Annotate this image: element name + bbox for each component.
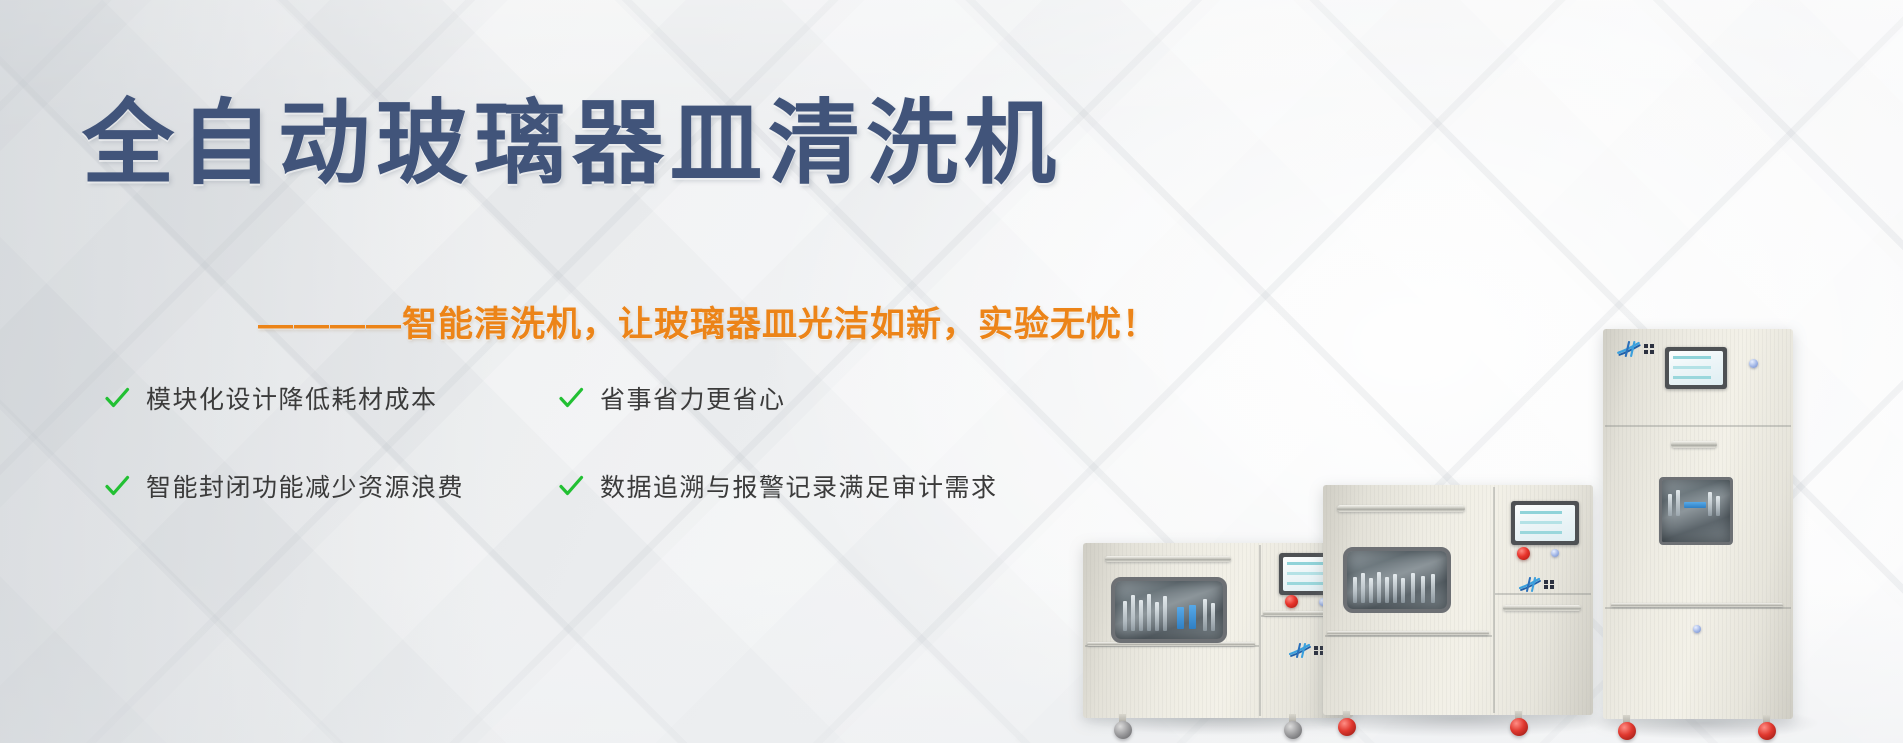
glassware-load — [1347, 551, 1447, 609]
page-title: 全自动玻璃器皿清洗机 — [82, 96, 1062, 194]
feature-label: 省事省力更省心 — [600, 380, 786, 416]
feature-list: 模块化设计降低耗材成本 省事省力更省心 智能封闭功能减少资源浪费 数据追溯与报警… — [104, 380, 998, 504]
emergency-stop-button[interactable] — [1517, 547, 1530, 560]
brand-logo — [1519, 577, 1554, 592]
viewing-window — [1111, 577, 1227, 643]
product-images — [1083, 0, 1903, 743]
caster-wheel — [1510, 718, 1528, 736]
panel-handle[interactable] — [1503, 605, 1581, 611]
check-icon — [104, 385, 130, 411]
logo-squares-icon — [1544, 580, 1554, 590]
brand-logo — [1617, 341, 1654, 357]
lower-door-handle[interactable] — [1327, 631, 1489, 635]
body-seam — [1495, 593, 1591, 595]
glassware-load — [1662, 480, 1730, 542]
touchscreen-panel[interactable] — [1665, 347, 1727, 389]
feature-item: 数据追溯与报警记录满足审计需求 — [558, 468, 998, 504]
copy-block: 全自动玻璃器皿清洗机 ————智能清洗机，让玻璃器皿光洁如新，实验无忧！ 模块化… — [0, 0, 1130, 743]
feature-item: 模块化设计降低耗材成本 — [104, 380, 464, 416]
feature-item: 省事省力更省心 — [558, 380, 998, 416]
caster-wheel — [1284, 721, 1302, 739]
feature-label: 智能封闭功能减少资源浪费 — [146, 468, 464, 504]
power-indicator-light — [1749, 359, 1758, 368]
logo-squares-icon — [1644, 344, 1654, 354]
body-seam — [1605, 425, 1791, 427]
product-image-1 — [1083, 543, 1353, 718]
check-icon — [104, 473, 130, 499]
touchscreen-panel[interactable] — [1511, 501, 1579, 545]
caster-wheel — [1618, 722, 1636, 740]
emergency-stop-button[interactable] — [1285, 595, 1298, 608]
lower-door-handle[interactable] — [1611, 603, 1783, 607]
door-handle[interactable] — [1105, 556, 1231, 562]
feature-label: 数据追溯与报警记录满足审计需求 — [600, 468, 998, 504]
feature-label: 模块化设计降低耗材成本 — [146, 380, 438, 416]
logo-h-icon — [1519, 577, 1541, 592]
product-image-3 — [1603, 329, 1793, 719]
glassware-load — [1115, 581, 1223, 639]
brand-logo — [1289, 643, 1324, 658]
viewing-window — [1659, 477, 1733, 545]
feature-item: 智能封闭功能减少资源浪费 — [104, 468, 464, 504]
door-handle[interactable] — [1671, 441, 1717, 448]
touchscreen-display — [1669, 351, 1723, 385]
logo-h-icon — [1617, 341, 1641, 357]
power-indicator-light — [1551, 549, 1559, 557]
check-icon — [558, 385, 584, 411]
caster-wheel — [1338, 718, 1356, 736]
body-seam — [1605, 607, 1791, 609]
check-icon — [558, 473, 584, 499]
logo-h-icon — [1289, 643, 1311, 658]
body-seam — [1325, 635, 1492, 637]
caster-wheel — [1758, 722, 1776, 740]
promo-banner: 全自动玻璃器皿清洗机 ————智能清洗机，让玻璃器皿光洁如新，实验无忧！ 模块化… — [0, 0, 1903, 743]
viewing-window — [1343, 547, 1451, 613]
touchscreen-display — [1515, 505, 1575, 541]
lower-door-lock-icon — [1693, 625, 1701, 633]
body-seam — [1259, 545, 1261, 716]
caster-wheel — [1114, 721, 1132, 739]
product-image-2 — [1323, 485, 1593, 715]
page-subtitle: ————智能清洗机，让玻璃器皿光洁如新，实验无忧！ — [258, 296, 1158, 347]
body-seam — [1493, 487, 1495, 713]
door-handle[interactable] — [1337, 505, 1465, 512]
